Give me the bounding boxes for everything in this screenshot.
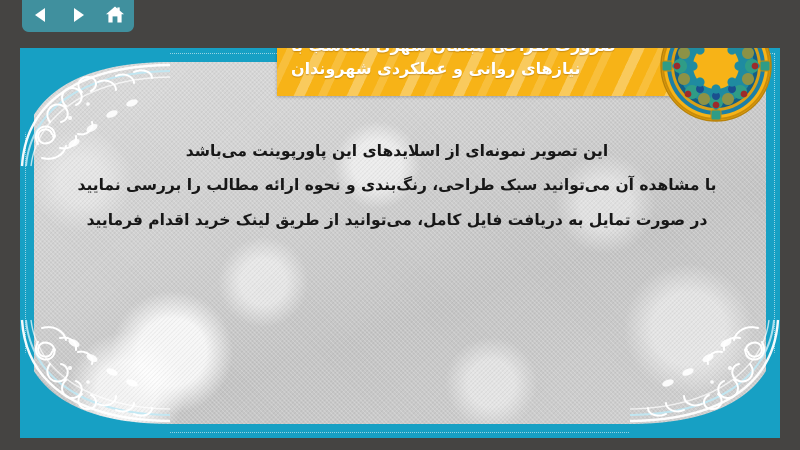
persian-medallion-ornament bbox=[660, 48, 772, 122]
slide-body-text: این تصویر نمونه‌ای از اسلایدهای این پاور… bbox=[50, 140, 744, 243]
triangle-left-icon bbox=[31, 5, 51, 25]
home-button[interactable] bbox=[102, 2, 128, 28]
triangle-right-icon bbox=[68, 5, 88, 25]
title-line-2: نیازهای روانی و عملکردی شهروندان bbox=[291, 57, 581, 80]
flourish-icon bbox=[20, 318, 170, 438]
body-line-3: در صورت تمایل به دریافت فایل کامل، می‌تو… bbox=[50, 209, 744, 232]
title-line-1: ضرورت طراحی مبلمان شهری متناسب با bbox=[291, 48, 616, 57]
back-button[interactable] bbox=[28, 2, 54, 28]
body-line-1: این تصویر نمونه‌ای از اسلایدهای این پاور… bbox=[50, 140, 744, 163]
body-line-2: با مشاهده آن می‌توانید سبک طراحی، رنگ‌بن… bbox=[50, 174, 744, 197]
home-icon bbox=[104, 4, 126, 26]
medallion-icon bbox=[660, 48, 772, 122]
flourish-icon bbox=[630, 318, 780, 438]
corner-ornament-bottom-right bbox=[630, 318, 780, 438]
screenshot-root: این تصویر نمونه‌ای از اسلایدهای این پاور… bbox=[0, 0, 800, 450]
presentation-slide: این تصویر نمونه‌ای از اسلایدهای این پاور… bbox=[20, 48, 780, 438]
corner-ornament-bottom-left bbox=[20, 318, 170, 438]
navigation-bar bbox=[22, 0, 134, 32]
forward-button[interactable] bbox=[65, 2, 91, 28]
